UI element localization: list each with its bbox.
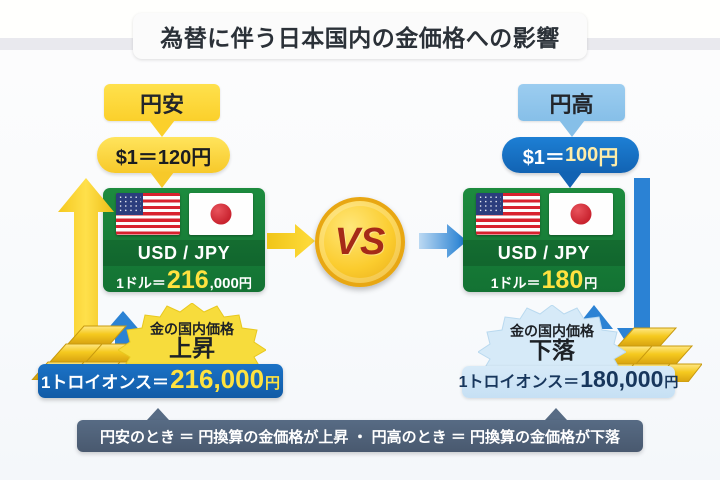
card-rate-right-main: 180 [542,266,584,292]
us-flag-icon [116,193,180,235]
rate-pill-right-unit: 円 [598,141,618,170]
page-title: 為替に伴う日本国内の金価格への影響 [160,19,560,53]
price-right-value: 180,000 [580,366,663,393]
vs-coin: VS [315,197,405,287]
card-rate-left-unit: 円 [239,273,252,292]
badge-yen-weak-tail [149,120,175,137]
flag-group-left [103,193,265,237]
card-rate-left-main: 216 [167,266,209,292]
price-left-value: 216,000 [170,364,264,395]
vs-label: VS [335,221,386,264]
jp-flag-icon [549,193,613,235]
page-title-box: 為替に伴う日本国内の金価格への影響 [133,13,587,59]
price-bar-left: 1トロイオンス＝ 216,000 円 [38,364,283,398]
infographic-canvas: 為替に伴う日本国内の金価格への影響 円安 $1＝120円 USD / JPY 1… [0,0,720,480]
rate-pill-right-tail [558,172,582,188]
card-rate-left-sub: ,000 [210,275,239,292]
summary-bar: 円安のとき ＝ 円換算の金価格が上昇 ・ 円高のとき ＝ 円換算の金価格が下落 [77,420,643,452]
yellow-right-arrow [267,224,315,258]
price-left-label: 1トロイオンス＝ [41,368,169,393]
flag-group-right [463,193,625,237]
price-bar-right: 1トロイオンス＝ 180,000 円 [462,366,675,398]
badge-yen-strong-label: 円高 [549,87,593,119]
summary-notch-left [147,408,169,420]
price-right-label: 1トロイオンス＝ [459,368,580,392]
rate-pill-right-prefix: $1＝ [523,141,565,170]
blue-right-arrow [419,224,467,258]
summary-notch-right [545,408,567,420]
rate-pill-right: $1＝ 100 円 [502,137,639,173]
currency-card-left: USD / JPY 1ドル＝ 216 ,000 円 [103,188,265,292]
card-rate-right-label: 1ドル＝ [491,273,541,292]
card-rate-right-unit: 円 [584,273,597,292]
card-rate-right: 1ドル＝ 180 円 [463,266,625,292]
us-flag-icon [476,193,540,235]
badge-yen-strong: 円高 [518,84,625,121]
card-rate-left-label: 1ドル＝ [116,273,166,292]
rate-pill-left: $1＝120円 [97,137,230,173]
rate-pill-left-tail [150,172,174,188]
jp-flag-icon [189,193,253,235]
price-left-unit: 円 [265,372,280,393]
currency-pair-left: USD / JPY [103,240,265,266]
rate-pill-left-label: $1＝120円 [116,141,212,170]
price-right-unit: 円 [664,372,678,392]
currency-card-right: USD / JPY 1ドル＝ 180 円 [463,188,625,292]
badge-yen-strong-tail [559,120,585,137]
badge-yen-weak-label: 円安 [140,87,184,119]
rate-pill-right-value: 100 [565,144,598,167]
card-rate-left: 1ドル＝ 216 ,000 円 [103,266,265,292]
summary-text: 円安のとき ＝ 円換算の金価格が上昇 ・ 円高のとき ＝ 円換算の金価格が下落 [100,426,620,447]
badge-yen-weak: 円安 [104,84,220,121]
currency-pair-right: USD / JPY [463,240,625,266]
